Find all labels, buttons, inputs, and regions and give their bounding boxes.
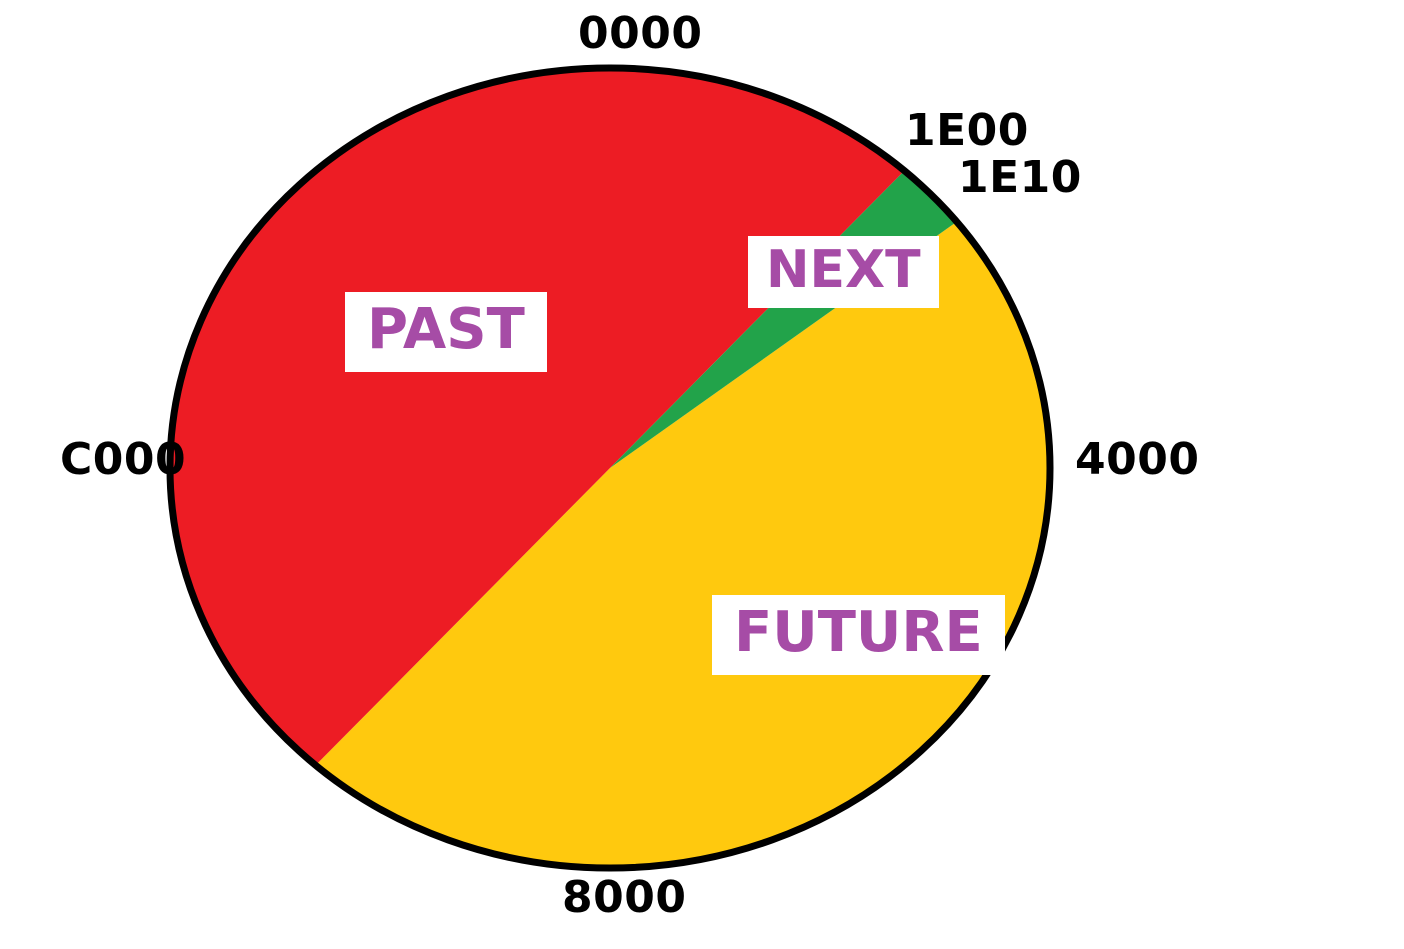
tick-label-4000: 4000 xyxy=(1075,434,1199,485)
tick-label-8000: 8000 xyxy=(562,872,686,923)
region-label-future: FUTURE xyxy=(712,595,1005,675)
tick-label-1e00: 1E00 xyxy=(905,105,1029,156)
tick-label-0000: 0000 xyxy=(578,8,702,59)
diagram-canvas: 0000 1E00 1E10 4000 8000 C000 PAST NEXT … xyxy=(0,0,1404,949)
tick-label-1e10: 1E10 xyxy=(958,152,1082,203)
tick-label-c000: C000 xyxy=(60,434,186,485)
region-label-past: PAST xyxy=(345,292,547,372)
region-label-next: NEXT xyxy=(748,236,939,308)
